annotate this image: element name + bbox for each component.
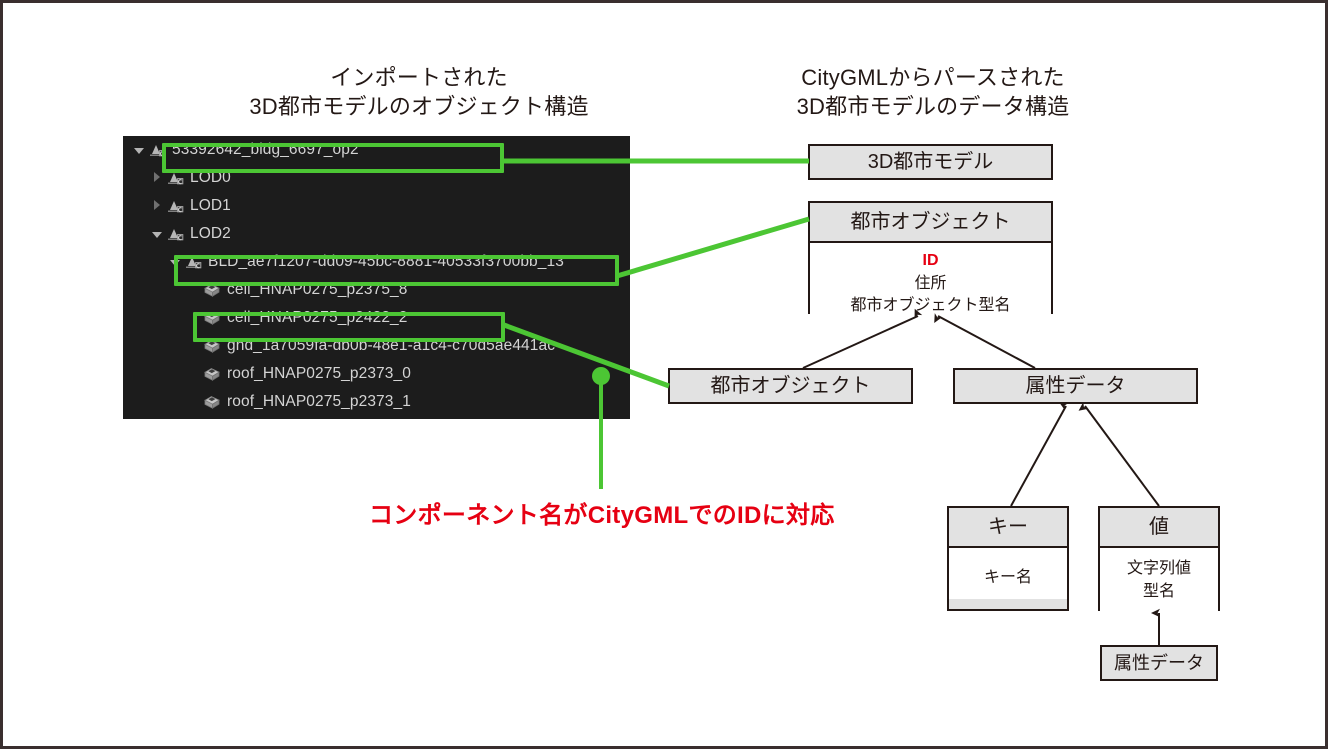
box-value: 値 文字列値 型名 xyxy=(1098,506,1220,611)
box-city-object-detail: 都市オブジェクト ID 住所 都市オブジェクト型名 xyxy=(808,201,1053,314)
twisty-spacer xyxy=(187,312,200,325)
box-attribute-data-leaf: 属性データ xyxy=(1100,645,1218,681)
hierarchy-row[interactable]: ceil_HNAP0275_p2422_2 xyxy=(123,304,630,332)
hierarchy-row-label: roof_HNAP0275_p2373_0 xyxy=(227,365,411,383)
twisty-spacer xyxy=(187,396,200,409)
hierarchy-row[interactable]: roof_HNAP0275_p2373_1 xyxy=(123,388,630,416)
twisty-spacer xyxy=(187,368,200,381)
hierarchy-row[interactable]: gnd_1a7059fa-db0b-48e1-a1c4-c70d5ae441ac xyxy=(123,332,630,360)
leader-bld-to-city-object xyxy=(617,219,809,276)
chevron-down-icon[interactable] xyxy=(151,228,164,241)
mesh-icon xyxy=(203,310,221,327)
hierarchy-row[interactable]: LOD2 xyxy=(123,220,630,248)
box-attribute-data-leaf-title: 属性データ xyxy=(1102,647,1216,679)
hierarchy-tree[interactable]: 53392642_bldg_6697_op2LOD0LOD1LOD2BLD_ae… xyxy=(123,136,630,416)
field-id: ID xyxy=(814,250,1047,273)
hierarchy-row-label: roof_HNAP0275_p2373_1 xyxy=(227,393,411,411)
hierarchy-row-label: 53392642_bldg_6697_op2 xyxy=(172,141,359,159)
hierarchy-row-label: ceil_HNAP0275_p2375_8 xyxy=(227,281,408,299)
box-value-fields: 文字列値 型名 xyxy=(1100,548,1218,612)
chevron-right-icon[interactable] xyxy=(151,200,164,213)
box-key-fields: キー名 xyxy=(949,548,1067,599)
hierarchy-row-label: LOD2 xyxy=(190,225,231,243)
box-city-object-ref-title: 都市オブジェクト xyxy=(670,370,911,402)
box-attribute-data-title: 属性データ xyxy=(955,370,1196,402)
unity-hierarchy-panel[interactable]: 53392642_bldg_6697_op2LOD0LOD1LOD2BLD_ae… xyxy=(123,136,630,419)
hierarchy-row[interactable]: LOD0 xyxy=(123,164,630,192)
mesh-icon xyxy=(203,338,221,355)
hierarchy-row[interactable]: roof_HNAP0275_p2373_0 xyxy=(123,360,630,388)
mesh-icon xyxy=(203,394,221,411)
field-type-name: 型名 xyxy=(1104,581,1214,604)
hierarchy-row-label: LOD0 xyxy=(190,169,231,187)
hierarchy-row[interactable]: LOD1 xyxy=(123,192,630,220)
mesh-icon xyxy=(203,366,221,383)
box-key-title: キー xyxy=(949,508,1067,548)
hierarchy-row[interactable]: BLD_ae7f1207-dd09-45bc-8881-40533f3700bb… xyxy=(123,248,630,276)
field-key-name: キー名 xyxy=(953,567,1063,590)
gameobject-icon xyxy=(149,142,166,159)
red-annotation-caption: コンポーネント名がCityGMLでのIDに対応 xyxy=(369,495,835,530)
box-city-object-detail-fields: ID 住所 都市オブジェクト型名 xyxy=(810,243,1051,327)
field-string-value: 文字列値 xyxy=(1104,558,1214,581)
mesh-icon xyxy=(203,282,221,299)
arrow-value-to-attribute-data xyxy=(1085,406,1159,506)
gameobject-icon xyxy=(167,170,184,187)
box-3d-city-model: 3D都市モデル xyxy=(808,144,1053,180)
field-city-object-type-name: 都市オブジェクト型名 xyxy=(814,295,1047,318)
hierarchy-row-label: ceil_HNAP0275_p2422_2 xyxy=(227,309,408,327)
left-column-heading: インポートされた 3D都市モデルのオブジェクト構造 xyxy=(189,63,649,121)
box-value-title: 値 xyxy=(1100,508,1218,548)
box-city-object-detail-title: 都市オブジェクト xyxy=(810,203,1051,243)
arrow-key-to-attribute-data xyxy=(1011,406,1066,506)
chevron-down-icon[interactable] xyxy=(133,144,146,157)
gameobject-icon xyxy=(167,226,184,243)
hierarchy-row[interactable]: 53392642_bldg_6697_op2 xyxy=(123,136,630,164)
chevron-down-icon[interactable] xyxy=(169,256,182,269)
figure-canvas: インポートされた 3D都市モデルのオブジェクト構造 CityGMLからパースされ… xyxy=(0,0,1328,749)
gameobject-icon xyxy=(185,254,202,271)
box-3d-city-model-title: 3D都市モデル xyxy=(810,146,1051,178)
twisty-spacer xyxy=(187,284,200,297)
hierarchy-row-label: BLD_ae7f1207-dd09-45bc-8881-40533f3700bb… xyxy=(208,253,564,271)
box-key: キー キー名 xyxy=(947,506,1069,611)
field-address: 住所 xyxy=(814,273,1047,296)
box-attribute-data: 属性データ xyxy=(953,368,1198,404)
gameobject-icon xyxy=(167,198,184,215)
right-column-heading: CityGMLからパースされた 3D都市モデルのデータ構造 xyxy=(763,63,1103,121)
hierarchy-row-label: LOD1 xyxy=(190,197,231,215)
hierarchy-row[interactable]: ceil_HNAP0275_p2375_8 xyxy=(123,276,630,304)
box-city-object-ref: 都市オブジェクト xyxy=(668,368,913,404)
twisty-spacer xyxy=(187,340,200,353)
chevron-right-icon[interactable] xyxy=(151,172,164,185)
hierarchy-row-label: gnd_1a7059fa-db0b-48e1-a1c4-c70d5ae441ac xyxy=(227,337,555,355)
